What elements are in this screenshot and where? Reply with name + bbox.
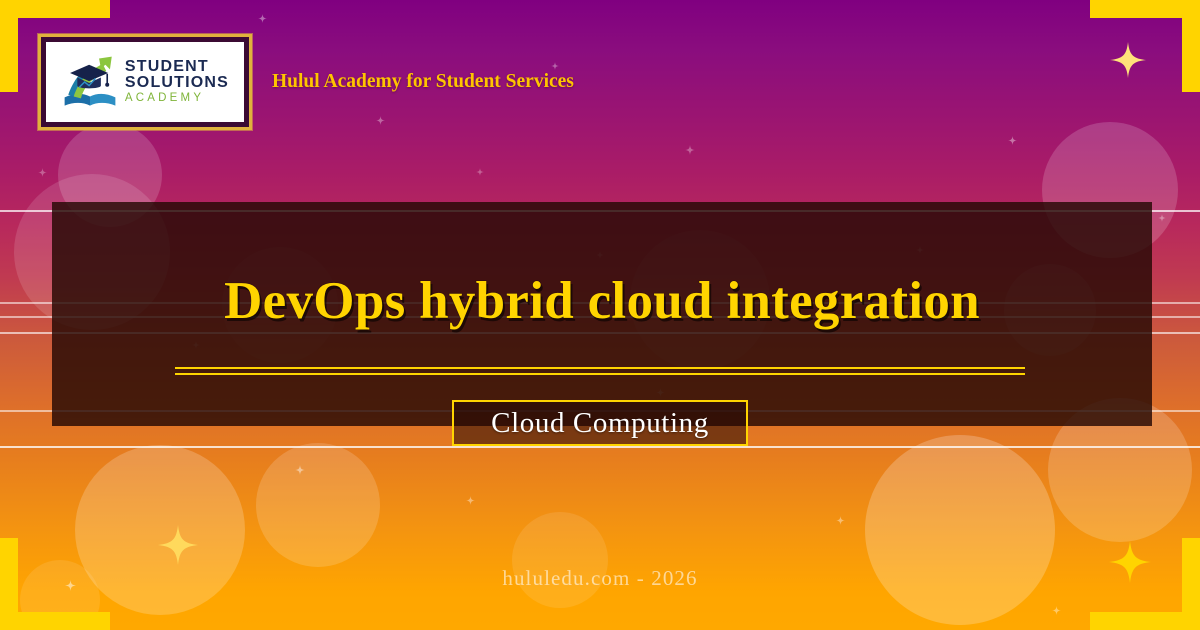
bokeh-circle <box>512 512 608 608</box>
page-title: DevOps hybrid cloud integration <box>224 274 980 330</box>
logo-frame: STUDENT SOLUTIONS ACADEMY <box>38 34 252 130</box>
logo-line-2: SOLUTIONS <box>125 75 229 91</box>
sparkle-small-6 <box>1008 136 1017 145</box>
footer-text: hululedu.com - 2026 <box>502 566 697 590</box>
poster-canvas: STUDENT SOLUTIONS ACADEMY Hulul Academy … <box>0 0 1200 630</box>
logo: STUDENT SOLUTIONS ACADEMY <box>46 42 244 122</box>
sparkle-star-bottom-left <box>158 525 198 565</box>
graduation-cap-growth-arrow-book-icon <box>61 53 119 111</box>
sparkle-small-5 <box>685 145 695 155</box>
sparkle-small-8 <box>38 168 47 177</box>
bokeh-circle <box>256 443 380 567</box>
subtitle-text: Cloud Computing <box>491 407 709 440</box>
header: STUDENT SOLUTIONS ACADEMY Hulul Academy … <box>38 34 574 130</box>
title-card: DevOps hybrid cloud integration <box>52 202 1152 426</box>
subtitle-badge: Cloud Computing <box>452 400 748 446</box>
horizontal-accent-line <box>0 446 1200 448</box>
sparkle-small-12 <box>295 465 305 475</box>
sparkle-small-14 <box>466 496 475 505</box>
sparkle-small-9 <box>476 168 484 176</box>
sparkle-small-2 <box>258 14 267 23</box>
logo-wordmark: STUDENT SOLUTIONS ACADEMY <box>125 59 229 105</box>
footer: hululedu.com - 2026 <box>0 566 1200 591</box>
sparkle-small-15 <box>836 516 845 525</box>
sparkle-star-top-right <box>1110 42 1146 78</box>
organization-name: Hulul Academy for Student Services <box>272 71 574 93</box>
title-card-content: DevOps hybrid cloud integration <box>52 202 1152 426</box>
sparkle-small-7 <box>1158 214 1166 222</box>
corner-bracket-top-right-icon <box>1090 0 1200 92</box>
bokeh-circle <box>865 435 1055 625</box>
logo-line-3: ACADEMY <box>125 93 229 105</box>
sparkle-small-16 <box>1052 606 1061 615</box>
logo-line-1: STUDENT <box>125 59 229 75</box>
